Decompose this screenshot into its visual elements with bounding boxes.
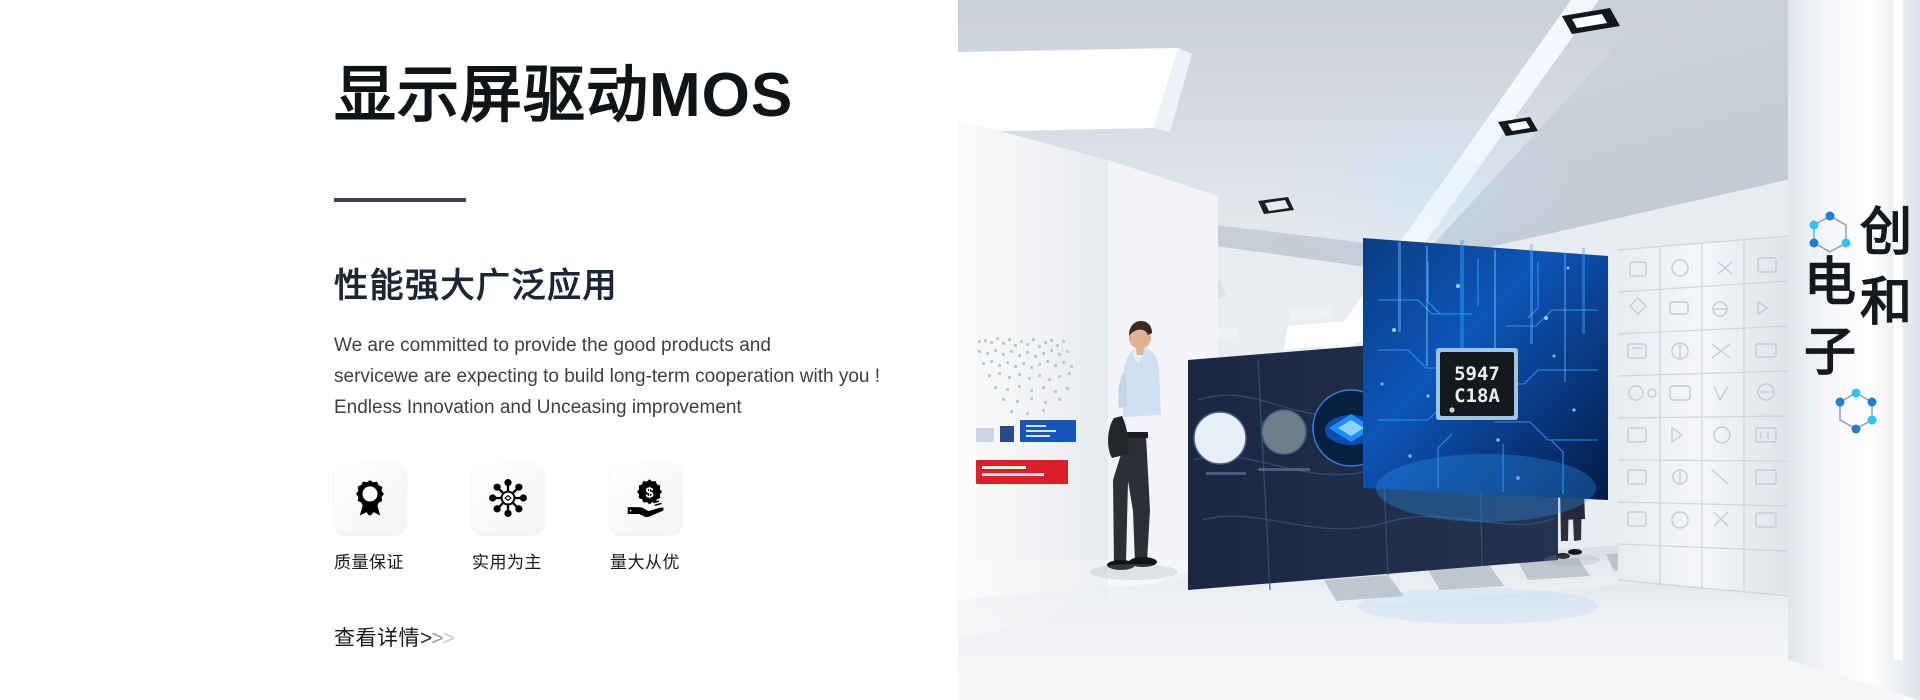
feature-icon-tile [472,462,544,534]
description-line-3: Endless Innovation and Unceasing improve… [334,392,894,423]
signage-char-zi: 子 [1804,323,1856,383]
network-hub-icon [487,477,529,519]
svg-text:$: $ [645,485,654,501]
signage-char-dian: 电 [1804,253,1856,313]
description-line-1: We are committed to provide the good pro… [334,330,894,361]
signage-char-chuang: 创 [1859,203,1912,263]
chip-label-line2: C18A [1454,385,1500,407]
feature-item-quality[interactable]: 质量保证 [334,462,414,573]
cta-arrow-1: > [420,627,431,650]
feature-label: 质量保证 [334,548,414,573]
description-text: We are committed to provide the good pro… [334,330,894,423]
cta-arrows: >>> [420,627,454,650]
showroom-interior-photo: 5947 C18A [958,0,1920,700]
signage-char-he: 和 [1860,273,1912,333]
cta-label: 查看详情 [334,627,420,650]
award-ribbon-icon [349,477,391,519]
hero-banner: 显示屏驱动MOS 性能强大广泛应用 We are committed to pr… [0,0,1920,700]
view-details-link[interactable]: 查看详情>>> [334,622,454,652]
page-title: 显示屏驱动MOS [334,60,793,131]
feature-label: 量大从优 [610,548,690,573]
hand-money-badge-icon: $ [625,477,667,519]
feature-item-bulk-discount[interactable]: $ 量大从优 [610,462,690,573]
left-text-panel: 显示屏驱动MOS 性能强大广泛应用 We are committed to pr… [0,0,958,700]
feature-item-practical[interactable]: 实用为主 [472,462,552,573]
cta-arrow-2: > [431,627,442,650]
feature-label: 实用为主 [472,548,552,573]
led-display-panel: 5947 C18A [1363,238,1608,522]
description-line-2: servicewe are expecting to build long-te… [334,361,894,392]
cta-arrow-3: > [443,627,454,650]
feature-icon-tile: $ [610,462,682,534]
feature-list: 质量保证 [334,462,690,573]
title-divider [334,198,466,202]
feature-icon-tile [334,462,406,534]
subtitle: 性能强大广泛应用 [334,258,618,307]
copy-block: 显示屏驱动MOS 性能强大广泛应用 We are committed to pr… [334,0,934,700]
chip-label-line1: 5947 [1454,363,1500,385]
showroom-illustration: 5947 C18A [958,0,1920,700]
